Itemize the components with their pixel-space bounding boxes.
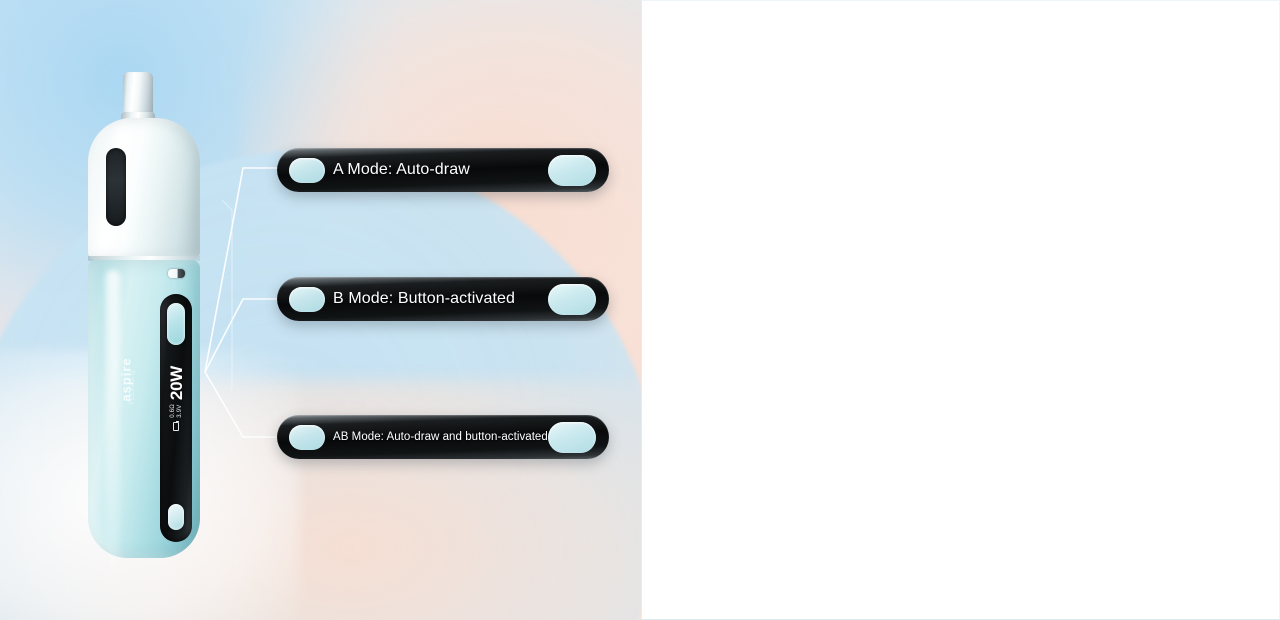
pill-left-indicator-icon [289, 425, 325, 450]
callout-label-b-mode: B Mode: Button-activated [333, 290, 541, 308]
callout-pill-a-mode[interactable]: A Mode: Auto-draw [277, 148, 609, 192]
device-brand-sublabel: FLEXUS Q [130, 349, 136, 425]
pill-left-indicator-icon [289, 158, 325, 183]
callout-pill-b-mode[interactable]: B Mode: Button-activated [277, 277, 609, 321]
device-indicator-light [168, 269, 185, 278]
description-panel: Optional 3 Activation Modes To cater to … [641, 0, 1280, 620]
pill-right-button-icon [548, 155, 596, 186]
pill-right-button-icon [548, 284, 596, 315]
callout-pill-ab-mode[interactable]: AB Mode: Auto-draw and button-activated [277, 415, 609, 459]
device-screen-voltage: 3.9V [177, 405, 183, 418]
device-pod-window [106, 148, 126, 226]
pill-right-button-icon [548, 422, 596, 453]
device-screen: 0.6Ω 3.9V 20W [160, 366, 192, 454]
device-bottom-button[interactable] [168, 504, 184, 530]
product-image-panel: aspire FLEXUS Q 0.6Ω 3.9V 20W A Mode: Au [0, 0, 641, 620]
device-fire-button[interactable] [167, 303, 185, 345]
device-control-panel: 0.6Ω 3.9V 20W [160, 294, 192, 542]
activation-modes-slide: aspire FLEXUS Q 0.6Ω 3.9V 20W A Mode: Au [0, 0, 1280, 620]
callout-label-ab-mode: AB Mode: Auto-draw and button-activated [333, 431, 541, 443]
device-screen-readouts: 0.6Ω 3.9V [170, 404, 183, 418]
battery-icon [173, 422, 179, 431]
device-screen-resistance: 0.6Ω [170, 404, 176, 418]
pill-left-indicator-icon [289, 287, 325, 312]
device-screen-wattage: 20W [168, 366, 185, 400]
device-gloss-highlight [106, 270, 120, 600]
vape-device: aspire FLEXUS Q 0.6Ω 3.9V 20W [84, 72, 208, 562]
device-pod [88, 118, 200, 260]
callout-label-a-mode: A Mode: Auto-draw [333, 161, 541, 179]
